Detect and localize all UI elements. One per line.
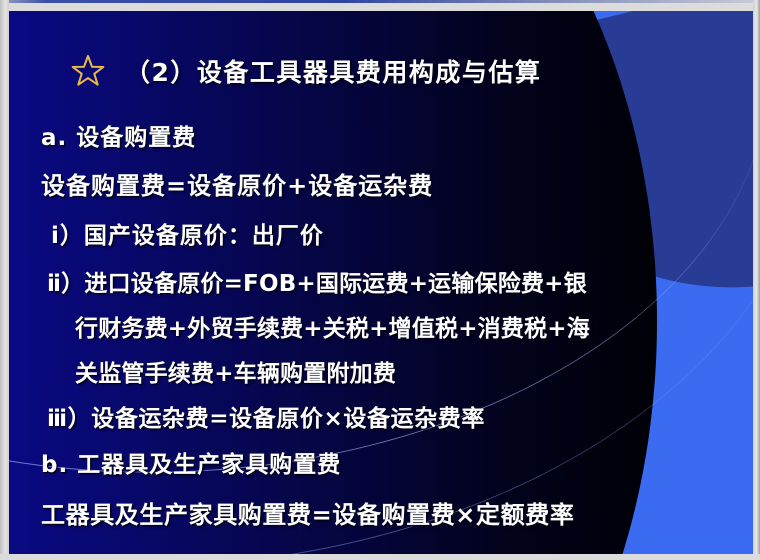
- body-line-item-ii-1: ⅱ）进口设备原价=FOB+国际运费+运输保险费+银: [47, 264, 587, 298]
- viewer-top-margin: [0, 3, 760, 11]
- body-line-a-formula: 设备购置费=设备原价+设备运杂费: [41, 166, 433, 201]
- body-line-b-formula: 工器具及生产家具购置费=设备购置费×定额费率: [41, 495, 574, 530]
- presentation-slide: （2）设备工具器具费用构成与估算 a. 设备购置费 设备购置费=设备原价+设备运…: [9, 11, 753, 554]
- body-line-item-i: ⅰ）国产设备原价：出厂价: [51, 216, 324, 250]
- slide-title: （2）设备工具器具费用构成与估算: [125, 53, 541, 89]
- viewer-left-margin: [0, 0, 9, 560]
- slide-content: （2）设备工具器具费用构成与估算 a. 设备购置费 设备购置费=设备原价+设备运…: [9, 11, 753, 554]
- slide-title-row: （2）设备工具器具费用构成与估算: [71, 53, 541, 89]
- body-line-item-ii-3: 关监管手续费+车辆购置附加费: [75, 354, 396, 388]
- body-line-b-heading: b. 工器具及生产家具购置费: [41, 445, 341, 479]
- viewer-bottom-margin: [0, 554, 760, 560]
- body-line-item-ii-2: 行财务费+外贸手续费+关税+增值税+消费税+海: [75, 309, 590, 343]
- body-line-item-iii: ⅲ）设备运杂费=设备原价×设备运杂费率: [47, 399, 485, 433]
- body-line-a-heading: a. 设备购置费: [41, 118, 196, 152]
- star-outline-icon: [71, 54, 105, 88]
- slide-viewer: （2）设备工具器具费用构成与估算 a. 设备购置费 设备购置费=设备原价+设备运…: [0, 0, 760, 560]
- viewer-right-margin: [753, 0, 760, 560]
